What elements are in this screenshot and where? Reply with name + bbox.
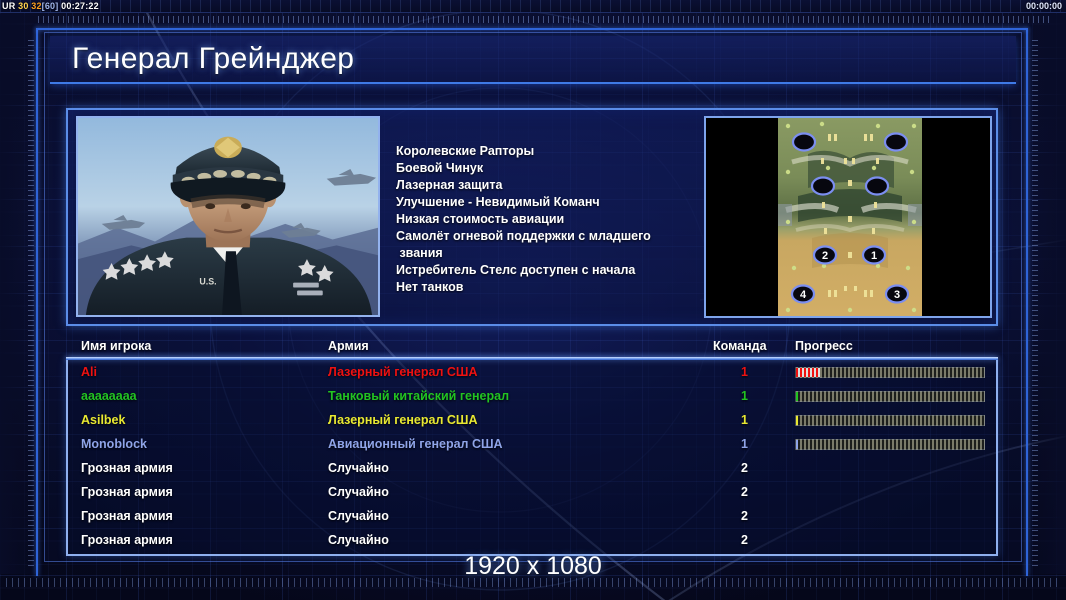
player-progress [795,367,985,378]
player-name: aaaaaaaa [81,389,137,403]
player-name: Ali [81,365,97,379]
player-army: Авиационный генерал США [328,437,503,451]
start-position-label: 3 [894,289,900,301]
feature-item: Низкая стоимость авиации [396,211,696,228]
player-table-header: Имя игрока Армия Команда Прогресс [66,338,998,358]
fps-value-secondary: 32 [31,1,41,11]
ruler-left [28,40,34,570]
feature-item: Улучшение - Невидимый Команч [396,194,696,211]
feature-item: Лазерная защита [396,177,696,194]
player-name: Грозная армия [81,509,173,523]
table-row[interactable]: MonoblockАвиационный генерал США1 [68,432,996,456]
table-row[interactable]: Грозная армияСлучайно2 [68,480,996,504]
feature-item: Истребитель Стелс доступен с начала [396,262,696,279]
right-vignette [1030,14,1066,574]
player-team: 2 [741,533,748,547]
performance-readout: UR 30 32[60] 00:27:22 [2,1,99,11]
player-team: 1 [741,437,748,451]
ruler-top [38,16,1050,23]
table-row[interactable]: Грозная армияСлучайно2 [68,504,996,528]
player-team: 2 [741,461,748,475]
session-timer: 00:27:22 [61,1,99,11]
player-army: Танковый китайский генерал [328,389,509,403]
player-army: Лазерный генерал США [328,365,477,379]
left-vignette [0,14,36,574]
game-lobby-screen: UR 30 32[60] 00:27:22 00:00:00 Генерал Г… [0,0,1066,600]
frame-edge-right [1026,28,1028,576]
column-header-progress: Прогресс [795,339,853,353]
column-header-army: Армия [328,339,369,353]
system-status-bar: UR 30 32[60] 00:27:22 00:00:00 [0,0,1066,13]
feature-item: Королевские Рапторы [396,143,696,160]
player-name: Monoblock [81,437,147,451]
player-name: Грозная армия [81,485,173,499]
player-army: Случайно [328,533,389,547]
feature-item: Самолёт огневой поддержки с младшего [396,228,696,245]
player-army: Случайно [328,485,389,499]
minimap-start-positions: 2 1 4 3 [778,118,922,316]
player-name: Asilbek [81,413,125,427]
player-team: 1 [741,365,748,379]
player-army: Случайно [328,509,389,523]
table-row[interactable]: AliЛазерный генерал США1 [68,360,996,384]
progress-bar [795,415,985,426]
progress-bar [795,439,985,450]
progress-bar [795,367,985,378]
table-row[interactable]: AsilbekЛазерный генерал США1 [68,408,996,432]
fps-cap: [60] [42,1,59,11]
player-progress [795,415,985,426]
resolution-label: 1920 x 1080 [0,552,1066,581]
feature-item: звания [396,245,696,262]
column-header-player: Имя игрока [81,339,151,353]
progress-bar-fill [796,440,798,449]
player-team: 1 [741,413,748,427]
ruler-right [1032,40,1038,570]
fps-label: UR [2,1,15,11]
start-position-label: 4 [800,289,807,301]
player-army: Лазерный генерал США [328,413,477,427]
general-feature-list: Королевские Рапторы Боевой Чинук Лазерна… [396,143,696,296]
progress-bar-fill [796,392,798,401]
table-row[interactable]: Грозная армияСлучайно2 [68,456,996,480]
start-position-label: 1 [871,250,877,262]
start-position-label: 2 [822,250,828,262]
player-progress [795,391,985,402]
match-clock: 00:00:00 [1026,1,1062,11]
player-table-body: AliЛазерный генерал США1aaaaaaaaТанковый… [66,360,998,556]
progress-bar-fill [796,368,820,377]
general-portrait: U.S. [76,116,380,317]
page-title: Генерал Грейнджер [72,42,354,76]
player-team: 1 [741,389,748,403]
table-row[interactable]: Грозная армияСлучайно2 [68,528,996,552]
player-name: Грозная армия [81,533,173,547]
frame-edge-top [36,28,1028,30]
fps-value: 30 [18,1,28,11]
cap-insignia [214,137,242,159]
player-army: Случайно [328,461,389,475]
feature-item: Нет танков [396,279,696,296]
player-team: 2 [741,509,748,523]
status-bar-ticks [0,0,1066,12]
svg-text:U.S.: U.S. [199,277,216,287]
progress-bar [795,391,985,402]
minimap-preview[interactable]: 2 1 4 3 [704,116,992,318]
frame-edge-left [36,28,38,576]
player-team: 2 [741,485,748,499]
player-progress [795,439,985,450]
feature-item: Боевой Чинук [396,160,696,177]
player-name: Грозная армия [81,461,173,475]
column-header-team: Команда [713,339,767,353]
table-row[interactable]: aaaaaaaaТанковый китайский генерал1 [68,384,996,408]
progress-bar-fill [796,416,798,425]
